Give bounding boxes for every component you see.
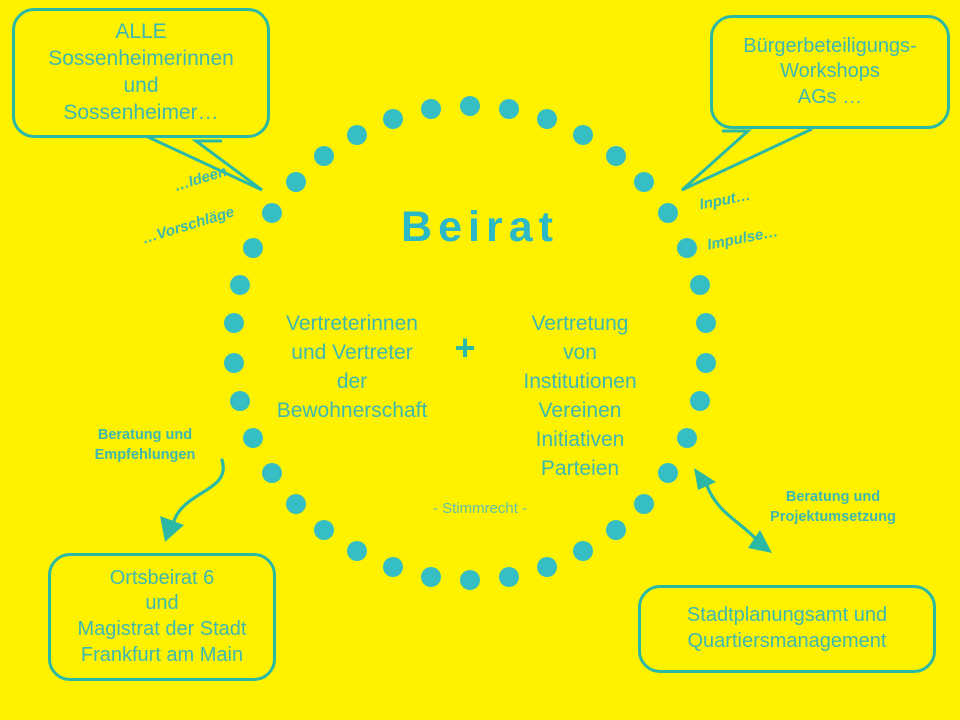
ring-dot — [230, 275, 250, 295]
label-beratung-und-projektumsetzung: Beratung und Projektumsetzung — [740, 487, 926, 528]
bubble-all-sossenheimer-text: ALLE Sossenheimerinnen und Sossenheimer… — [15, 19, 267, 127]
voting-rights-note: - Stimmrecht - — [360, 500, 600, 517]
ring-dot — [677, 428, 697, 448]
ring-dot — [537, 109, 557, 129]
bubble-ortsbeirat-text: Ortsbeirat 6 und Magistrat der Stadt Fra… — [51, 566, 273, 668]
ring-dot — [634, 172, 654, 192]
members-column-residents: Vertreterinnen und Vertreter der Bewohne… — [262, 310, 442, 426]
label-ideen-line1: …Ideen — [172, 162, 230, 197]
bubble-buergerbeteiligung[interactable]: Bürgerbeteiligungs- Workshops AGs … — [710, 15, 950, 129]
ring-dot — [314, 520, 334, 540]
ring-dot — [460, 96, 480, 116]
bubble-buergerbeteiligung-text: Bürgerbeteiligungs- Workshops AGs … — [713, 34, 947, 111]
ring-dot — [499, 567, 519, 587]
label-input-line1: Input… — [698, 182, 772, 216]
ring-dot — [696, 313, 716, 333]
ring-dot — [383, 109, 403, 129]
ring-dot — [314, 146, 334, 166]
ring-dot — [347, 125, 367, 145]
label-input-line2: Impulse… — [706, 222, 780, 256]
diagram-canvas: Beirat + Vertreterinnen und Vertreter de… — [0, 0, 960, 720]
ring-dot — [347, 541, 367, 561]
arrow-beratung-empfehlungen — [173, 460, 223, 524]
ring-dot — [690, 391, 710, 411]
ring-dot — [421, 567, 441, 587]
ring-dot — [224, 313, 244, 333]
bubble-stadtplanungsamt-text: Stadtplanungsamt und Quartiersmanagement — [641, 603, 933, 654]
ring-dot — [421, 99, 441, 119]
ring-dot — [262, 463, 282, 483]
bubble-all-sossenheimer[interactable]: ALLE Sossenheimerinnen und Sossenheimer… — [12, 8, 270, 138]
ring-dot — [230, 391, 250, 411]
bubble-stadtplanungsamt[interactable]: Stadtplanungsamt und Quartiersmanagement — [638, 585, 936, 673]
ring-dot — [573, 125, 593, 145]
arrowhead-down-right — [748, 530, 772, 553]
label-beratung-und-empfehlungen: Beratung und Empfehlungen — [70, 425, 220, 466]
plus-icon: + — [440, 330, 490, 366]
arrowhead-up-left — [694, 468, 716, 490]
ring-dot — [634, 494, 654, 514]
ring-dot — [286, 494, 306, 514]
ring-dot — [606, 520, 626, 540]
ring-dot — [499, 99, 519, 119]
bubble-ortsbeirat[interactable]: Ortsbeirat 6 und Magistrat der Stadt Fra… — [48, 553, 276, 681]
ring-dot — [573, 541, 593, 561]
ring-dot — [286, 172, 306, 192]
label-input-impulse: Input… Impulse… — [694, 162, 784, 275]
ring-dot — [243, 428, 263, 448]
ring-dot — [606, 146, 626, 166]
arrowhead-down-left — [160, 516, 184, 542]
ring-dot — [537, 557, 557, 577]
ring-dot — [696, 353, 716, 373]
ring-dot — [383, 557, 403, 577]
ring-dot — [224, 353, 244, 373]
ring-dot — [460, 570, 480, 590]
label-ideen-line2: …Vorschläge — [140, 201, 242, 250]
ring-dot — [690, 275, 710, 295]
members-column-institutions: Vertretung von Institutionen Vereinen In… — [490, 310, 670, 484]
